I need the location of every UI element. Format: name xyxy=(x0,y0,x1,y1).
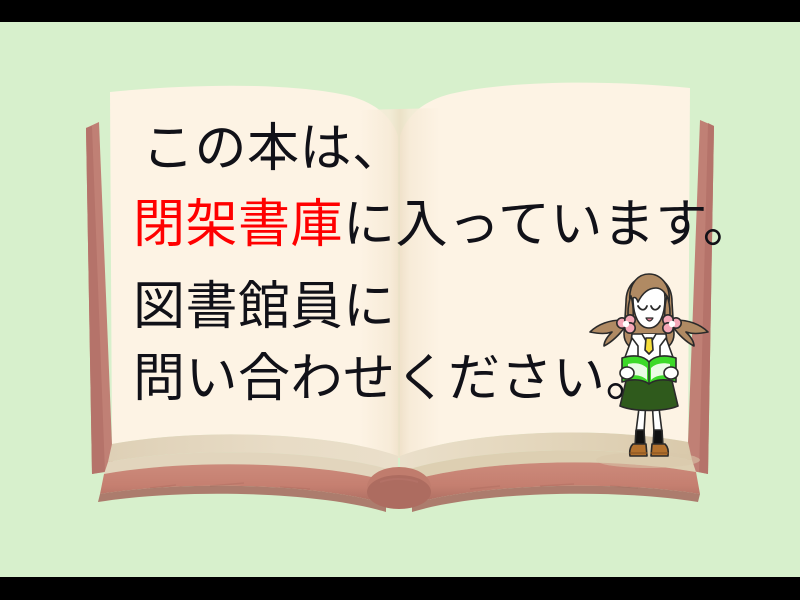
book-spine-knob xyxy=(367,467,431,509)
letterbox-bar-bottom xyxy=(0,577,800,600)
book-cover-left xyxy=(86,122,113,474)
screenshot-canvas: この本は、 閉架書庫に入っています。 図書館員に 問い合わせください。 xyxy=(0,0,800,600)
book-spine-shading xyxy=(360,108,440,458)
necktie xyxy=(645,338,653,354)
letterbox-bar-top xyxy=(0,0,800,22)
book-page-left xyxy=(110,86,398,456)
hand-right xyxy=(664,367,678,379)
shoe-right xyxy=(651,444,668,456)
shoe-left xyxy=(630,444,647,456)
hand-left xyxy=(620,367,634,379)
librarian-girl-illustration xyxy=(586,272,712,468)
